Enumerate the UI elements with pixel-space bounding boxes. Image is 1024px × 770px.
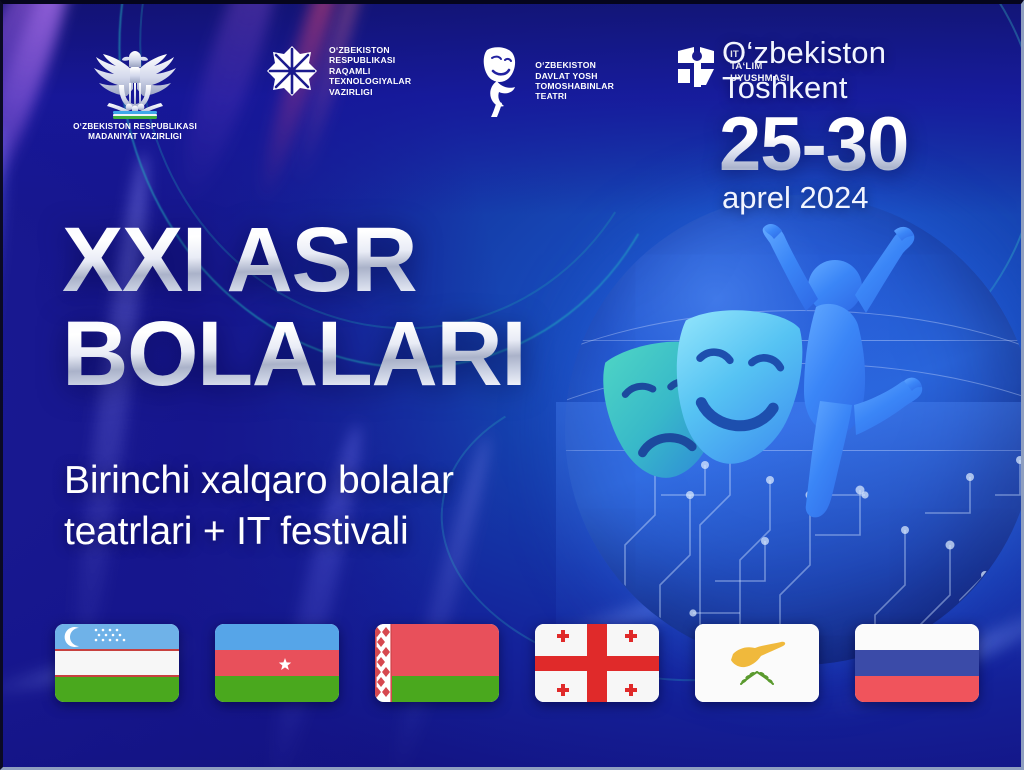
eight-point-star-rosette-icon [266, 45, 318, 97]
flag-belarus[interactable] [375, 624, 499, 702]
festival-poster: O‘ZBEKISTON RESPUBLIKASI MADANIYAT VAZIR… [0, 0, 1024, 770]
title-line-1: XXI ASR [62, 212, 525, 310]
flag-cyprus[interactable] [695, 624, 819, 702]
participating-country-flags [55, 624, 979, 702]
partner-logos: O‘ZBEKISTON RESPUBLIKASI MADANIYAT VAZIR… [60, 45, 789, 142]
event-country: O‘zbekiston [722, 36, 962, 71]
logo-caption-line: RESPUBLIKASI [329, 55, 411, 65]
theatre-mask-figure-icon [475, 45, 523, 117]
logo-caption-line: O‘ZBEKISTON RESPUBLIKASI [73, 122, 197, 132]
winged-emblem-lyre-icon [89, 45, 181, 119]
logo-caption-line: RAQAMLI [329, 66, 411, 76]
logo-caption-line: O‘ZBEKISTON [329, 45, 411, 55]
logo-caption-line: O‘ZBEKISTON [535, 60, 614, 70]
subtitle-line-1: Birinchi xalqaro bolalar [64, 455, 644, 506]
event-date-block: O‘zbekiston Toshkent 25-30 aprel 2024 [722, 36, 962, 216]
logo-caption-line: MADANIYAT VAZIRLIGI [73, 132, 197, 142]
flag-russia[interactable] [855, 624, 979, 702]
dancing-figure-icon [760, 215, 945, 520]
logo-young-spectators-theatre[interactable]: O‘ZBEKISTON DAVLAT YOSH TOMOSHABINLAR TE… [475, 45, 614, 117]
flag-georgia[interactable] [535, 624, 659, 702]
subtitle-line-2: teatrlari + IT festivali [64, 506, 644, 557]
event-date-range: 25-30 [719, 107, 962, 183]
title-line-2: BOLALARI [62, 306, 525, 404]
flag-azerbaijan[interactable] [215, 624, 339, 702]
logo-caption-line: TOMOSHABINLAR [535, 81, 614, 91]
logo-caption-line: TEATRI [535, 91, 614, 101]
logo-ministry-of-digital-technologies[interactable]: O‘ZBEKISTON RESPUBLIKASI RAQAMLI TEXNOLO… [266, 45, 411, 97]
logo-ministry-of-culture[interactable]: O‘ZBEKISTON RESPUBLIKASI MADANIYAT VAZIR… [60, 45, 210, 142]
it-association-monogram-icon [676, 45, 720, 89]
page-subtitle: Birinchi xalqaro bolalar teatrlari + IT … [64, 455, 644, 558]
flag-uzbekistan[interactable] [55, 624, 179, 702]
logo-caption-line: TEXNOLOGIYALAR [329, 76, 411, 86]
page-title: XXI ASR BOLALARI [62, 212, 525, 403]
event-city: Toshkent [722, 71, 962, 106]
logo-caption-line: VAZIRLIGI [329, 87, 411, 97]
logo-caption-line: DAVLAT YOSH [535, 71, 614, 81]
